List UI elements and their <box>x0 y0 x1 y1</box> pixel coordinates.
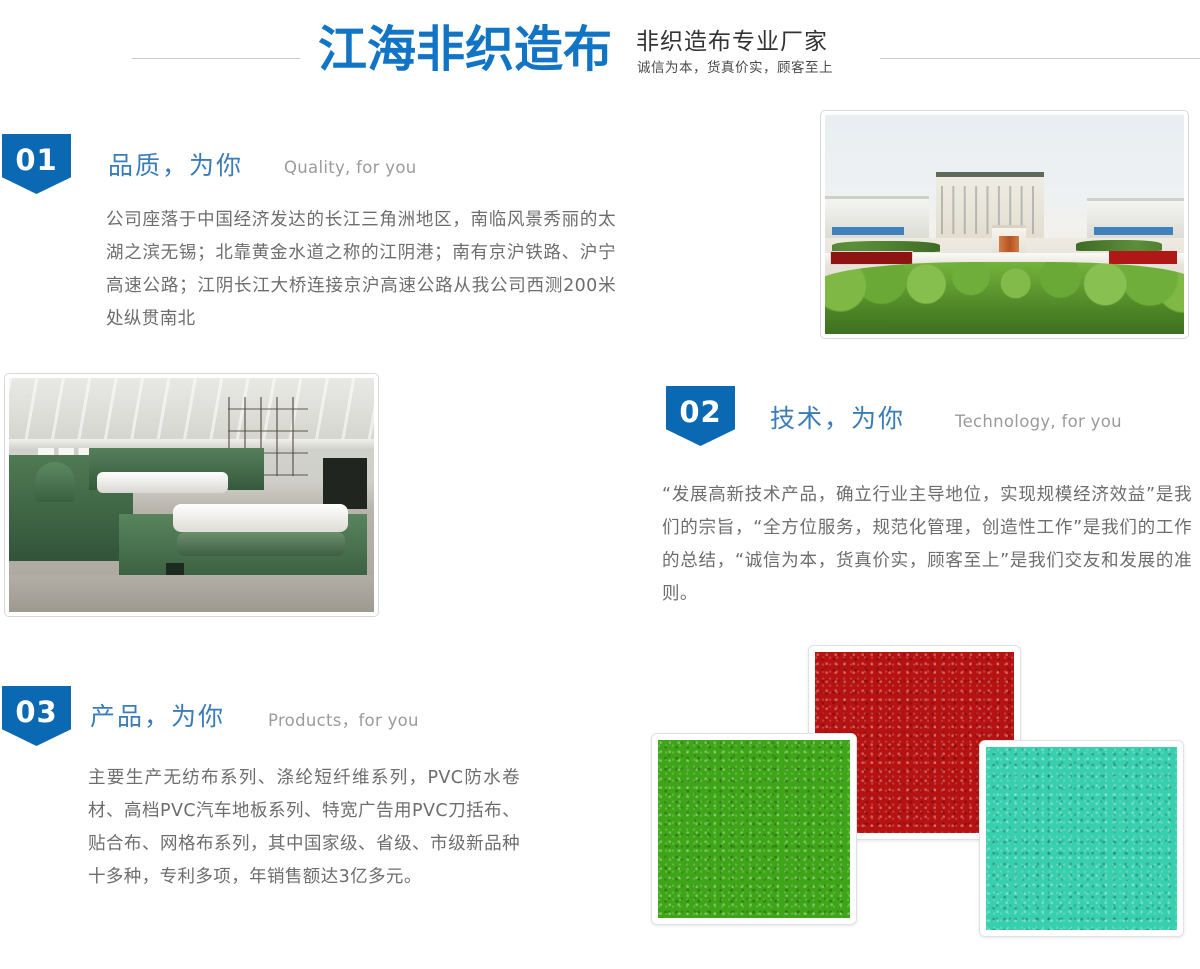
section-badge-03: 03 <box>2 686 71 746</box>
section-body-02: “发展高新技术产品，确立行业主导地位，实现规模经济效益”是我们的宗旨，“全方位服… <box>662 479 1192 611</box>
machine-duct <box>35 462 75 502</box>
brand-tagline-group: 非织造布专业厂家 诚信为本，货真价实，顾客至上 <box>636 27 833 79</box>
section-title-en-01: Quality, for you <box>284 156 417 180</box>
fabric-roll-main <box>173 504 348 532</box>
machine-cabinet <box>323 458 367 509</box>
promo-page: 江海非织造布 非织造布专业厂家 诚信为本，货真价实，顾客至上 01 品质，为你 … <box>0 0 1200 969</box>
header-divider-left <box>132 58 300 59</box>
section-title-03: 产品，为你 <box>90 701 225 733</box>
company-sign-left <box>830 251 913 265</box>
section-badge-01: 01 <box>2 134 71 194</box>
green-pvc-leather-swatch <box>651 733 857 925</box>
factory-building-photo <box>825 115 1184 334</box>
factory-building-photo-frame <box>820 110 1189 339</box>
canopy-left <box>832 227 904 236</box>
nonwoven-machine-photo-frame <box>4 373 379 617</box>
factory-floor <box>9 575 374 612</box>
company-sign-right <box>1109 251 1177 264</box>
hedge-right <box>1076 240 1162 251</box>
section-body-03: 主要生产无纺布系列、涤纶短纤维系列，PVC防水卷材、高档PVC汽车地板系列、特宽… <box>88 762 520 894</box>
section-title-02: 技术，为你 <box>770 403 905 435</box>
green-swatch-surface <box>658 740 850 918</box>
tree-line <box>825 262 1184 334</box>
brand-tagline-secondary: 诚信为本，货真价实，顾客至上 <box>636 57 833 79</box>
fabric-roll-upper <box>97 472 228 493</box>
machine-drum <box>177 532 345 555</box>
gate-kiosk <box>992 225 1026 256</box>
nonwoven-machine-photo <box>9 378 374 612</box>
section-body-01: 公司座落于中国经济发达的长江三角洲地区，南临风景秀丽的太湖之滨无锡；北靠黄金水道… <box>106 204 616 336</box>
section-badge-02: 02 <box>666 386 735 446</box>
section-title-en-02: Technology, for you <box>955 410 1122 434</box>
section-title-01: 品质，为你 <box>108 150 243 182</box>
brand-tagline-primary: 非织造布专业厂家 <box>636 27 833 57</box>
section-title-en-03: Products，for you <box>268 709 419 733</box>
green-leather-texture <box>658 740 850 918</box>
brand-logo-text: 江海非织造布 <box>318 20 612 80</box>
cyan-swatch-surface <box>986 747 1177 930</box>
cyan-pvc-leather-swatch <box>979 740 1184 937</box>
cyan-leather-texture <box>986 747 1177 930</box>
header-divider-right <box>880 58 1200 59</box>
kiosk-door <box>999 236 1018 251</box>
factory-ceiling <box>9 378 374 448</box>
office-building <box>936 172 1044 240</box>
canopy-right <box>1094 227 1173 236</box>
page-header: 江海非织造布 非织造布专业厂家 诚信为本，货真价实，顾客至上 <box>0 0 1200 100</box>
